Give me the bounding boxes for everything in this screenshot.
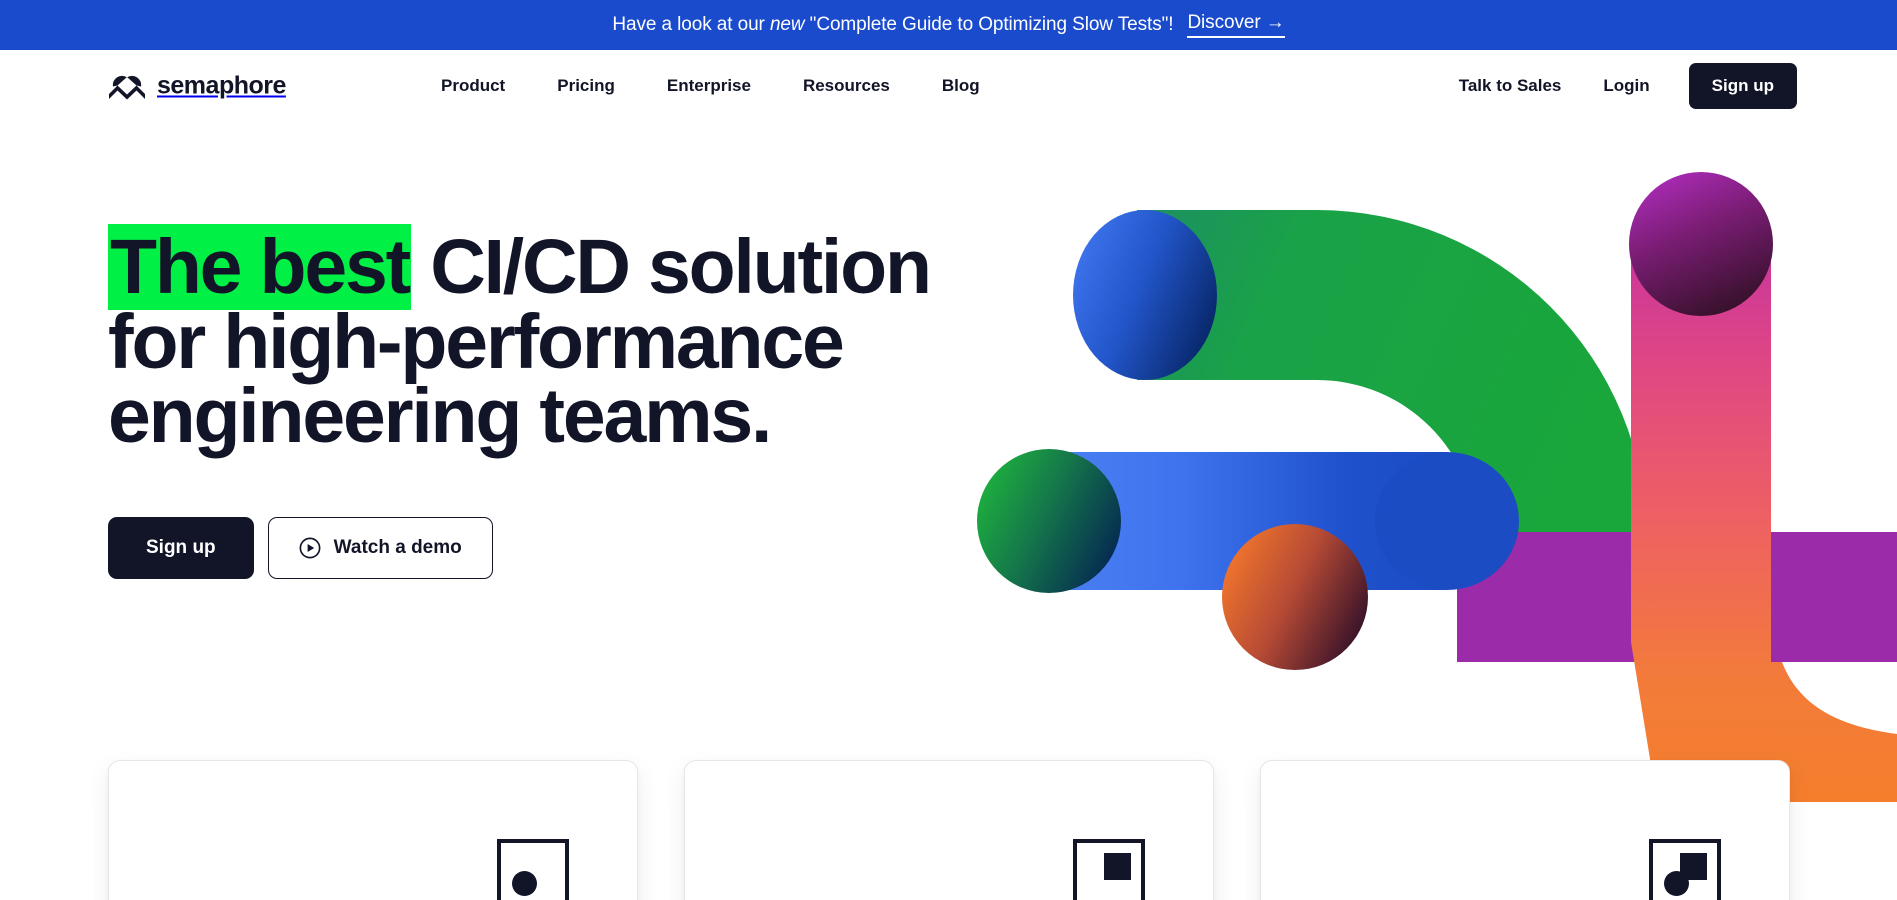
nav-item-blog[interactable]: Blog — [916, 76, 1006, 96]
circle-shape — [512, 871, 537, 896]
hero-headline-highlight: The best — [108, 224, 411, 310]
talk-to-sales-link[interactable]: Talk to Sales — [1438, 76, 1583, 96]
square-outline-with-circle-icon — [497, 839, 569, 900]
nav-signup-button[interactable]: Sign up — [1689, 63, 1797, 109]
hero-headline: The best CI/CD solutionfor high-performa… — [108, 230, 1058, 454]
hero-illustration — [977, 122, 1897, 802]
orange-sphere-shape — [1222, 524, 1368, 670]
announcement-banner: Have a look at our new "Complete Guide t… — [0, 0, 1897, 50]
square-outline-with-square-and-circle-icon — [1649, 839, 1721, 900]
feature-card[interactable] — [1260, 760, 1790, 900]
circle-shape — [1664, 871, 1689, 896]
blue-tube-shape — [1037, 452, 1447, 590]
announcement-text-after: "Complete Guide to Optimizing Slow Tests… — [805, 14, 1174, 35]
watch-demo-button[interactable]: Watch a demo — [268, 517, 493, 579]
green-bent-pipe-shape — [1137, 210, 1647, 602]
nav-item-resources[interactable]: Resources — [777, 76, 916, 96]
page-root: Have a look at our new "Complete Guide t… — [0, 0, 1897, 900]
nav-item-pricing[interactable]: Pricing — [531, 76, 641, 96]
main-navbar: semaphore Product Pricing Enterprise Res… — [0, 50, 1897, 122]
purple-bar-shape — [1457, 532, 1897, 662]
nav-item-product[interactable]: Product — [415, 76, 531, 96]
blue-sphere-shape — [1073, 210, 1217, 380]
feature-card[interactable] — [108, 760, 638, 900]
announcement-text: Have a look at our new "Complete Guide t… — [612, 14, 1173, 36]
purple-sphere-shape — [1629, 172, 1773, 316]
square-shape — [1104, 853, 1131, 880]
nav-item-enterprise[interactable]: Enterprise — [641, 76, 777, 96]
pink-orange-tube-shape — [1631, 242, 1897, 802]
hero-illustration-svg — [977, 122, 1897, 802]
hero-signup-button[interactable]: Sign up — [108, 517, 254, 579]
logo-wordmark: semaphore — [157, 72, 286, 101]
watch-demo-label: Watch a demo — [334, 537, 462, 559]
play-circle-icon — [299, 537, 321, 559]
square-outline-with-square-icon — [1073, 839, 1145, 900]
hero-headline-line3: engineering teams. — [108, 373, 770, 459]
feature-card-row — [108, 760, 1790, 900]
announcement-text-before: Have a look at our — [612, 14, 770, 35]
nav-actions: Talk to Sales Login Sign up — [1438, 63, 1797, 109]
announcement-emphasis: new — [770, 14, 805, 35]
hero-section: The best CI/CD solutionfor high-performa… — [108, 230, 1058, 579]
login-link[interactable]: Login — [1582, 76, 1670, 96]
feature-card[interactable] — [684, 760, 1214, 900]
hero-headline-line1-rest: CI/CD solution — [411, 224, 930, 310]
announcement-discover-link[interactable]: Discover → — [1187, 12, 1284, 38]
purple-bar-right-shape — [1771, 532, 1897, 662]
blue-tube-cap-shape — [1375, 452, 1519, 590]
hero-headline-line2: for high-performance — [108, 299, 843, 385]
semaphore-logo[interactable]: semaphore — [108, 72, 286, 101]
hero-cta-group: Sign up Watch a demo — [108, 517, 1058, 579]
primary-nav: Product Pricing Enterprise Resources Blo… — [415, 76, 1006, 96]
semaphore-chevron-logo-icon — [108, 73, 146, 99]
